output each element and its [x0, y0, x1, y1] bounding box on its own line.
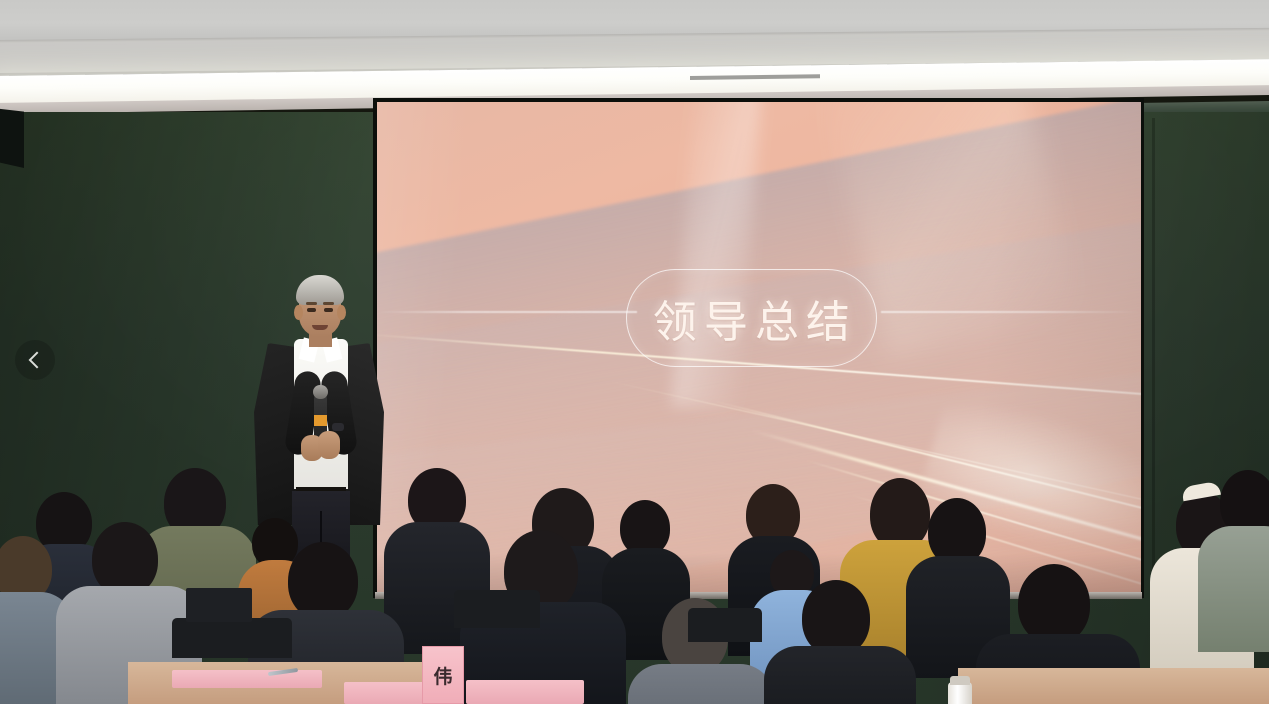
presenter-brow-right [323, 302, 334, 305]
presenter-eye-right [324, 308, 333, 312]
laptop [186, 588, 252, 622]
conference-hall-scene: 领导总结 [0, 0, 1269, 704]
desk-pink-pad [172, 670, 322, 688]
person-head [1018, 564, 1090, 644]
person-head [288, 542, 358, 620]
desk-pink-pad [466, 680, 584, 704]
desk-surface [958, 668, 1269, 704]
chair-back [454, 590, 540, 628]
person-torso [628, 664, 774, 704]
microphone-head [313, 385, 328, 399]
person-head [92, 522, 158, 596]
presenter-ear-right [337, 305, 346, 320]
chair-back [688, 608, 762, 642]
person-torso [764, 646, 916, 704]
slide-rule-left [377, 311, 637, 312]
presenter-mouth [312, 325, 328, 330]
previous-image-button[interactable] [15, 340, 55, 380]
slide-title: 领导总结 [646, 286, 857, 350]
wall-speaker-box [0, 108, 24, 168]
chair-back [172, 618, 292, 658]
presenter-brow-left [306, 302, 317, 305]
photo-viewer: 领导总结 [0, 0, 1269, 704]
name-placard: 伟 [422, 646, 464, 704]
chevron-left-icon [29, 352, 46, 369]
presenter-wristwatch [332, 423, 344, 431]
name-placard-text: 伟 [433, 662, 452, 689]
audience: 伟 [0, 440, 1269, 704]
water-bottle-cap [950, 676, 970, 685]
presenter-hair [296, 275, 344, 305]
presenter-ear-left [294, 305, 303, 320]
water-bottle [948, 682, 972, 704]
slide-rule-right [881, 311, 1141, 312]
person-head [802, 580, 870, 656]
person-torso [1198, 526, 1269, 652]
slide-title-pill: 领导总结 [626, 269, 877, 367]
microphone-band [314, 415, 327, 426]
presenter-eye-left [307, 308, 316, 312]
